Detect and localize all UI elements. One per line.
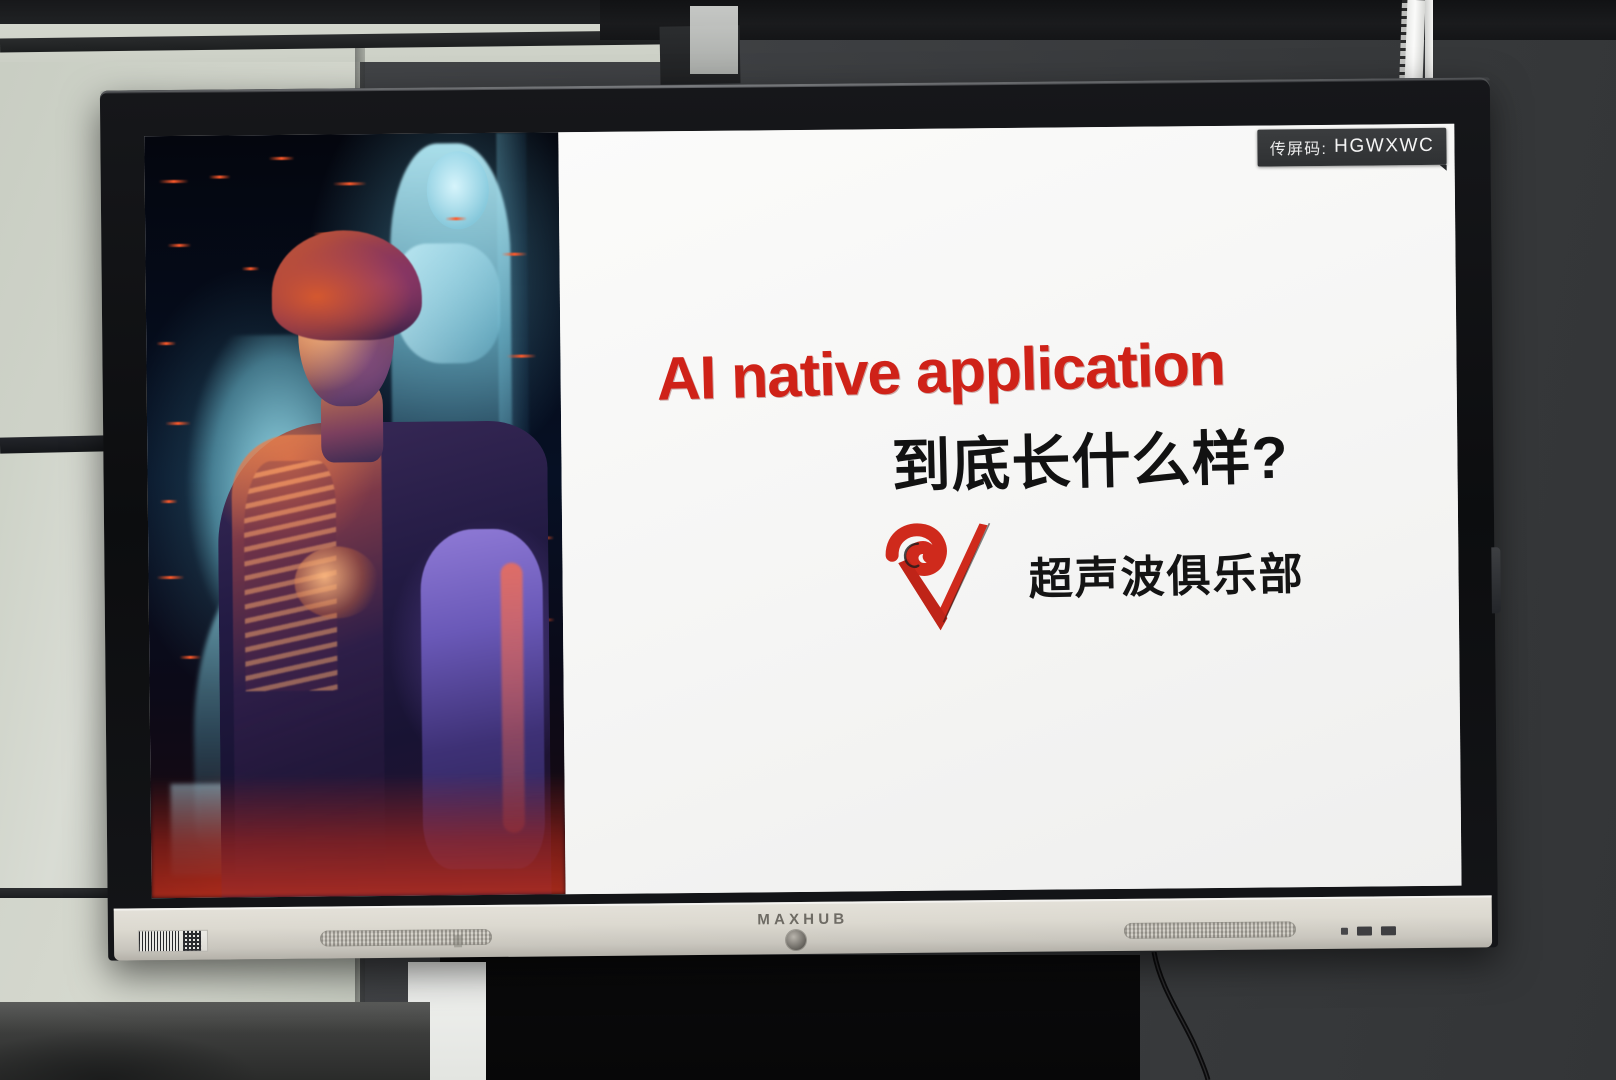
power-cable [1150, 952, 1280, 1080]
badge-corner-fold [1440, 165, 1447, 171]
usb-port[interactable] [1381, 926, 1396, 935]
speaker-grille-right [1124, 921, 1296, 939]
club-name-label: 超声波俱乐部 [1028, 538, 1305, 608]
slide-content: AI native application 到底长什么样? 超声波俱乐部 传屏码… [558, 124, 1461, 895]
side-power-button[interactable] [1491, 547, 1501, 613]
checkmark-swirl-icon [883, 517, 1003, 637]
foreground-figure-head [263, 230, 429, 428]
ir-sensor-icon [786, 930, 806, 950]
slide-artwork-image [144, 132, 565, 898]
nfc-tag-marker [454, 935, 462, 947]
foreground-figure-hair [271, 230, 422, 341]
cast-code-label: 传屏码: [1270, 135, 1327, 160]
usb-port[interactable] [1357, 927, 1372, 936]
port-indicators[interactable] [1341, 926, 1396, 936]
cast-code-value: HGWXWC [1334, 135, 1435, 158]
floor-shadow [0, 1030, 260, 1080]
cast-code-badge[interactable]: 传屏码: HGWXWC [1258, 128, 1447, 167]
slide-title-english: AI native application [656, 324, 1398, 414]
ceiling-beam [600, 0, 1616, 40]
window-glass-top [690, 6, 738, 74]
port-dot[interactable] [1341, 928, 1348, 935]
blind-stem [1425, 0, 1433, 90]
club-logo: 超声波俱乐部 [883, 511, 1305, 637]
display-screen[interactable]: AI native application 到底长什么样? 超声波俱乐部 传屏码… [144, 124, 1461, 899]
lower-dark-wall [440, 955, 1140, 1080]
artwork-red-glow [150, 772, 565, 898]
maxhub-interactive-display[interactable]: AI native application 到底长什么样? 超声波俱乐部 传屏码… [100, 77, 1498, 960]
slide-title-chinese: 到底长什么样? [890, 406, 1432, 504]
